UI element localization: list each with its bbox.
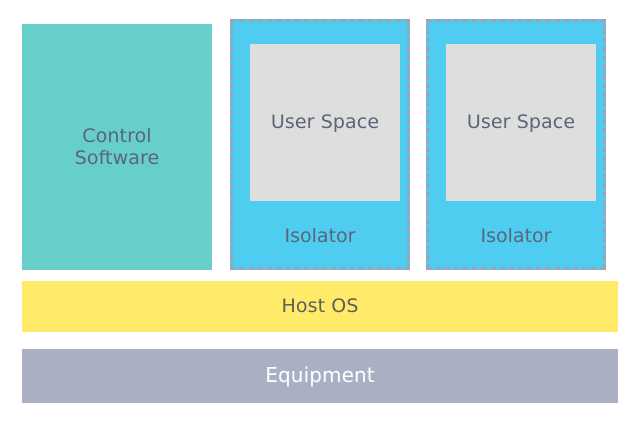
isolator-block-1: User Space Isolator: [230, 19, 410, 270]
isolator-block-2: User Space Isolator: [426, 19, 606, 270]
architecture-diagram: Control Software User Space Isolator Use…: [0, 0, 640, 426]
user-space-block-1: User Space: [250, 44, 400, 201]
user-space-label-1: User Space: [271, 111, 379, 133]
control-software-block: Control Software: [22, 24, 212, 270]
isolator-label-1: Isolator: [233, 225, 407, 247]
control-software-label: Control Software: [75, 125, 160, 170]
equipment-label: Equipment: [265, 364, 374, 388]
user-space-label-2: User Space: [467, 111, 575, 133]
equipment-block: Equipment: [22, 349, 618, 403]
isolator-label-2: Isolator: [429, 225, 603, 247]
user-space-block-2: User Space: [446, 44, 596, 201]
host-os-label: Host OS: [281, 295, 358, 317]
host-os-block: Host OS: [22, 281, 618, 332]
